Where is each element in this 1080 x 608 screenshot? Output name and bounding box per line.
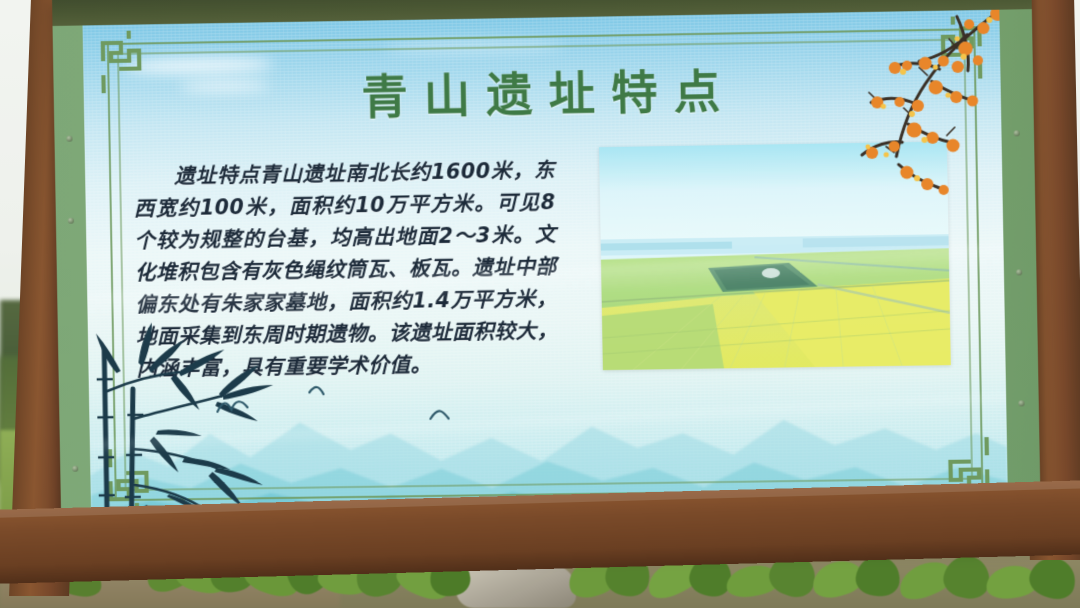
screw [68,218,74,224]
sign-board: 青山遗址特点 遗址特点青山遗址南北长约1600米，东西宽约100米，面积约10万… [52,0,1041,556]
screw [72,466,78,472]
corner-ornament-bottom-left [102,449,165,512]
screw [66,136,72,142]
aerial-photo [599,142,951,371]
outdoor-scene: 青山遗址特点 遗址特点青山遗址南北长约1600米，东西宽约100米，面积约10万… [0,0,1080,608]
screw [1016,269,1022,275]
sign-body-text: 遗址特点青山遗址南北长约1600米，东西宽约100米，面积约10万平方米。可见8… [133,154,559,385]
body-paragraph: 遗址特点青山遗址南北长约1600米，东西宽约100米，面积约10万平方米。可见8… [133,154,559,385]
screw [1018,400,1024,406]
screw [1014,130,1020,136]
sign-face: 青山遗址特点 遗址特点青山遗址南北长约1600米，东西宽约100米，面积约10万… [83,10,1009,526]
